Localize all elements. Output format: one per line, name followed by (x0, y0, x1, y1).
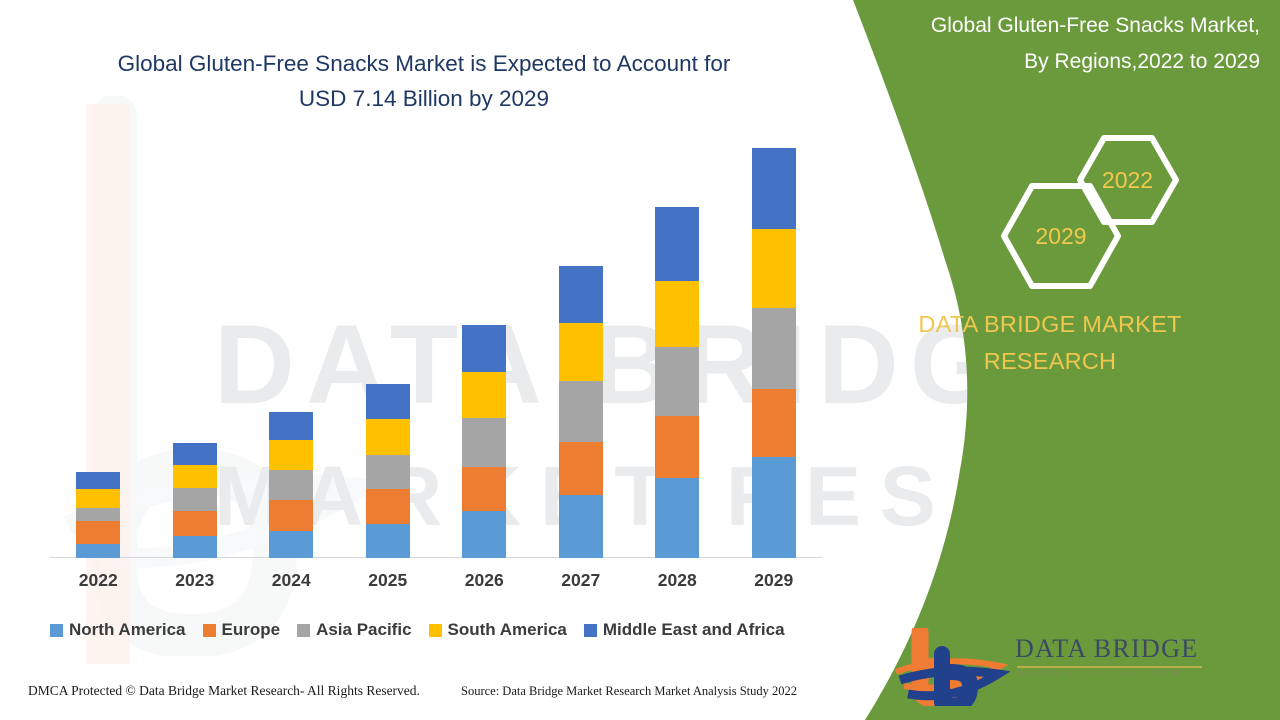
green-title-line-1: Global Gluten-Free Snacks Market, (931, 14, 1260, 37)
x-tick-2028: 2028 (629, 566, 726, 594)
bar-segment (655, 281, 699, 347)
bar-segment (752, 229, 796, 308)
legend-swatch-icon (203, 624, 216, 637)
bar-segment (76, 544, 120, 558)
bar-segment (269, 470, 313, 500)
headline-line-1: Global Gluten-Free Snacks Market is Expe… (118, 51, 731, 76)
legend-label: Europe (222, 620, 281, 640)
bar-segment (559, 266, 603, 323)
x-axis-labels: 20222023202420252026202720282029 (50, 566, 822, 594)
bar-segment (752, 457, 796, 558)
hexagon-2029-label: 2029 (1035, 223, 1086, 250)
legend-swatch-icon (584, 624, 597, 637)
bar-segment (366, 455, 410, 490)
stacked-bar[interactable] (269, 412, 313, 558)
hexagon-2022-label: 2022 (1102, 167, 1153, 194)
hexagon-badge-2022: 2022 (1075, 133, 1180, 227)
green-title-line-2: By Regions,2022 to 2029 (1024, 50, 1260, 73)
legend-item[interactable]: Middle East and Africa (584, 620, 785, 640)
stacked-bar[interactable] (559, 266, 603, 558)
x-tick-2025: 2025 (340, 566, 437, 594)
footer-source: Source: Data Bridge Market Research Mark… (461, 684, 797, 699)
brand-line-1: DATA BRIDGE MARKET (918, 311, 1181, 337)
bar-segment (752, 308, 796, 389)
bar-group-2027 (533, 150, 630, 558)
bar-segment (752, 389, 796, 457)
bar-segment (462, 467, 506, 511)
x-tick-2024: 2024 (243, 566, 340, 594)
stacked-bar-chart (50, 150, 822, 558)
logo-tagline: MARKET RESEARCH (1017, 668, 1185, 679)
bar-segment (752, 148, 796, 229)
x-tick-2022: 2022 (50, 566, 147, 594)
data-bridge-logo-icon (890, 628, 1010, 706)
bar-segment (559, 495, 603, 558)
stacked-bar[interactable] (655, 207, 699, 558)
company-logo: DATA BRIDGE MARKET RESEARCH (890, 628, 1230, 706)
x-tick-2026: 2026 (436, 566, 533, 594)
chart-legend: North AmericaEuropeAsia PacificSouth Ame… (50, 616, 840, 644)
bar-segment (76, 472, 120, 489)
infographic-canvas: DATA BRIDGE MARKET RESEARCH Global Glute… (0, 0, 1280, 720)
bar-segment (366, 489, 410, 524)
bar-segment (559, 381, 603, 442)
bar-group-2029 (726, 150, 823, 558)
bar-segment (655, 416, 699, 478)
bar-segment (462, 511, 506, 558)
legend-swatch-icon (297, 624, 310, 637)
bar-segment (462, 325, 506, 372)
brand-line-2: RESEARCH (984, 348, 1116, 374)
legend-swatch-icon (50, 624, 63, 637)
headline-line-2: USD 7.14 Billion by 2029 (299, 86, 549, 111)
bar-segment (462, 372, 506, 418)
bar-segment (366, 524, 410, 558)
bar-segment (559, 442, 603, 495)
bar-segment (655, 347, 699, 416)
bar-segment (269, 440, 313, 470)
x-tick-2027: 2027 (533, 566, 630, 594)
legend-item[interactable]: Asia Pacific (297, 620, 411, 640)
bar-segment (366, 384, 410, 419)
brand-name: DATA BRIDGE MARKET RESEARCH (840, 306, 1260, 380)
stacked-bar[interactable] (76, 472, 120, 558)
green-side-panel: Global Gluten-Free Snacks Market, By Reg… (820, 0, 1280, 720)
x-tick-2029: 2029 (726, 566, 823, 594)
bar-segment (76, 521, 120, 544)
footer-copyright: DMCA Protected © Data Bridge Market Rese… (28, 683, 420, 699)
bar-group-2026 (436, 150, 533, 558)
bar-segment (655, 478, 699, 558)
bar-segment (76, 508, 120, 521)
bar-segment (173, 443, 217, 466)
stacked-bar[interactable] (366, 384, 410, 558)
legend-label: Middle East and Africa (603, 620, 785, 640)
bar-segment (462, 418, 506, 467)
logo-name: DATA BRIDGE (1015, 634, 1198, 664)
bar-segment (173, 488, 217, 511)
bar-segment (269, 412, 313, 441)
page-title: Global Gluten-Free Snacks Market is Expe… (44, 46, 804, 116)
legend-label: South America (448, 620, 567, 640)
bar-segment (173, 465, 217, 488)
green-panel-title: Global Gluten-Free Snacks Market, By Reg… (860, 8, 1260, 80)
stacked-bar[interactable] (173, 443, 217, 558)
bar-segment (559, 323, 603, 381)
legend-label: Asia Pacific (316, 620, 411, 640)
bar-segment (76, 489, 120, 508)
legend-swatch-icon (429, 624, 442, 637)
bar-group-2023 (147, 150, 244, 558)
bar-segment (366, 419, 410, 455)
legend-item[interactable]: North America (50, 620, 186, 640)
bar-segment (173, 536, 217, 558)
bar-group-2022 (50, 150, 147, 558)
stacked-bar[interactable] (462, 325, 506, 558)
legend-item[interactable]: Europe (203, 620, 281, 640)
bar-segment (655, 207, 699, 281)
bar-segment (269, 500, 313, 531)
legend-item[interactable]: South America (429, 620, 567, 640)
bar-segment (173, 511, 217, 536)
bar-group-2025 (340, 150, 437, 558)
bar-group-2024 (243, 150, 340, 558)
legend-label: North America (69, 620, 186, 640)
bar-group-2028 (629, 150, 726, 558)
x-tick-2023: 2023 (147, 566, 244, 594)
stacked-bar[interactable] (752, 148, 796, 558)
bar-segment (269, 531, 313, 558)
